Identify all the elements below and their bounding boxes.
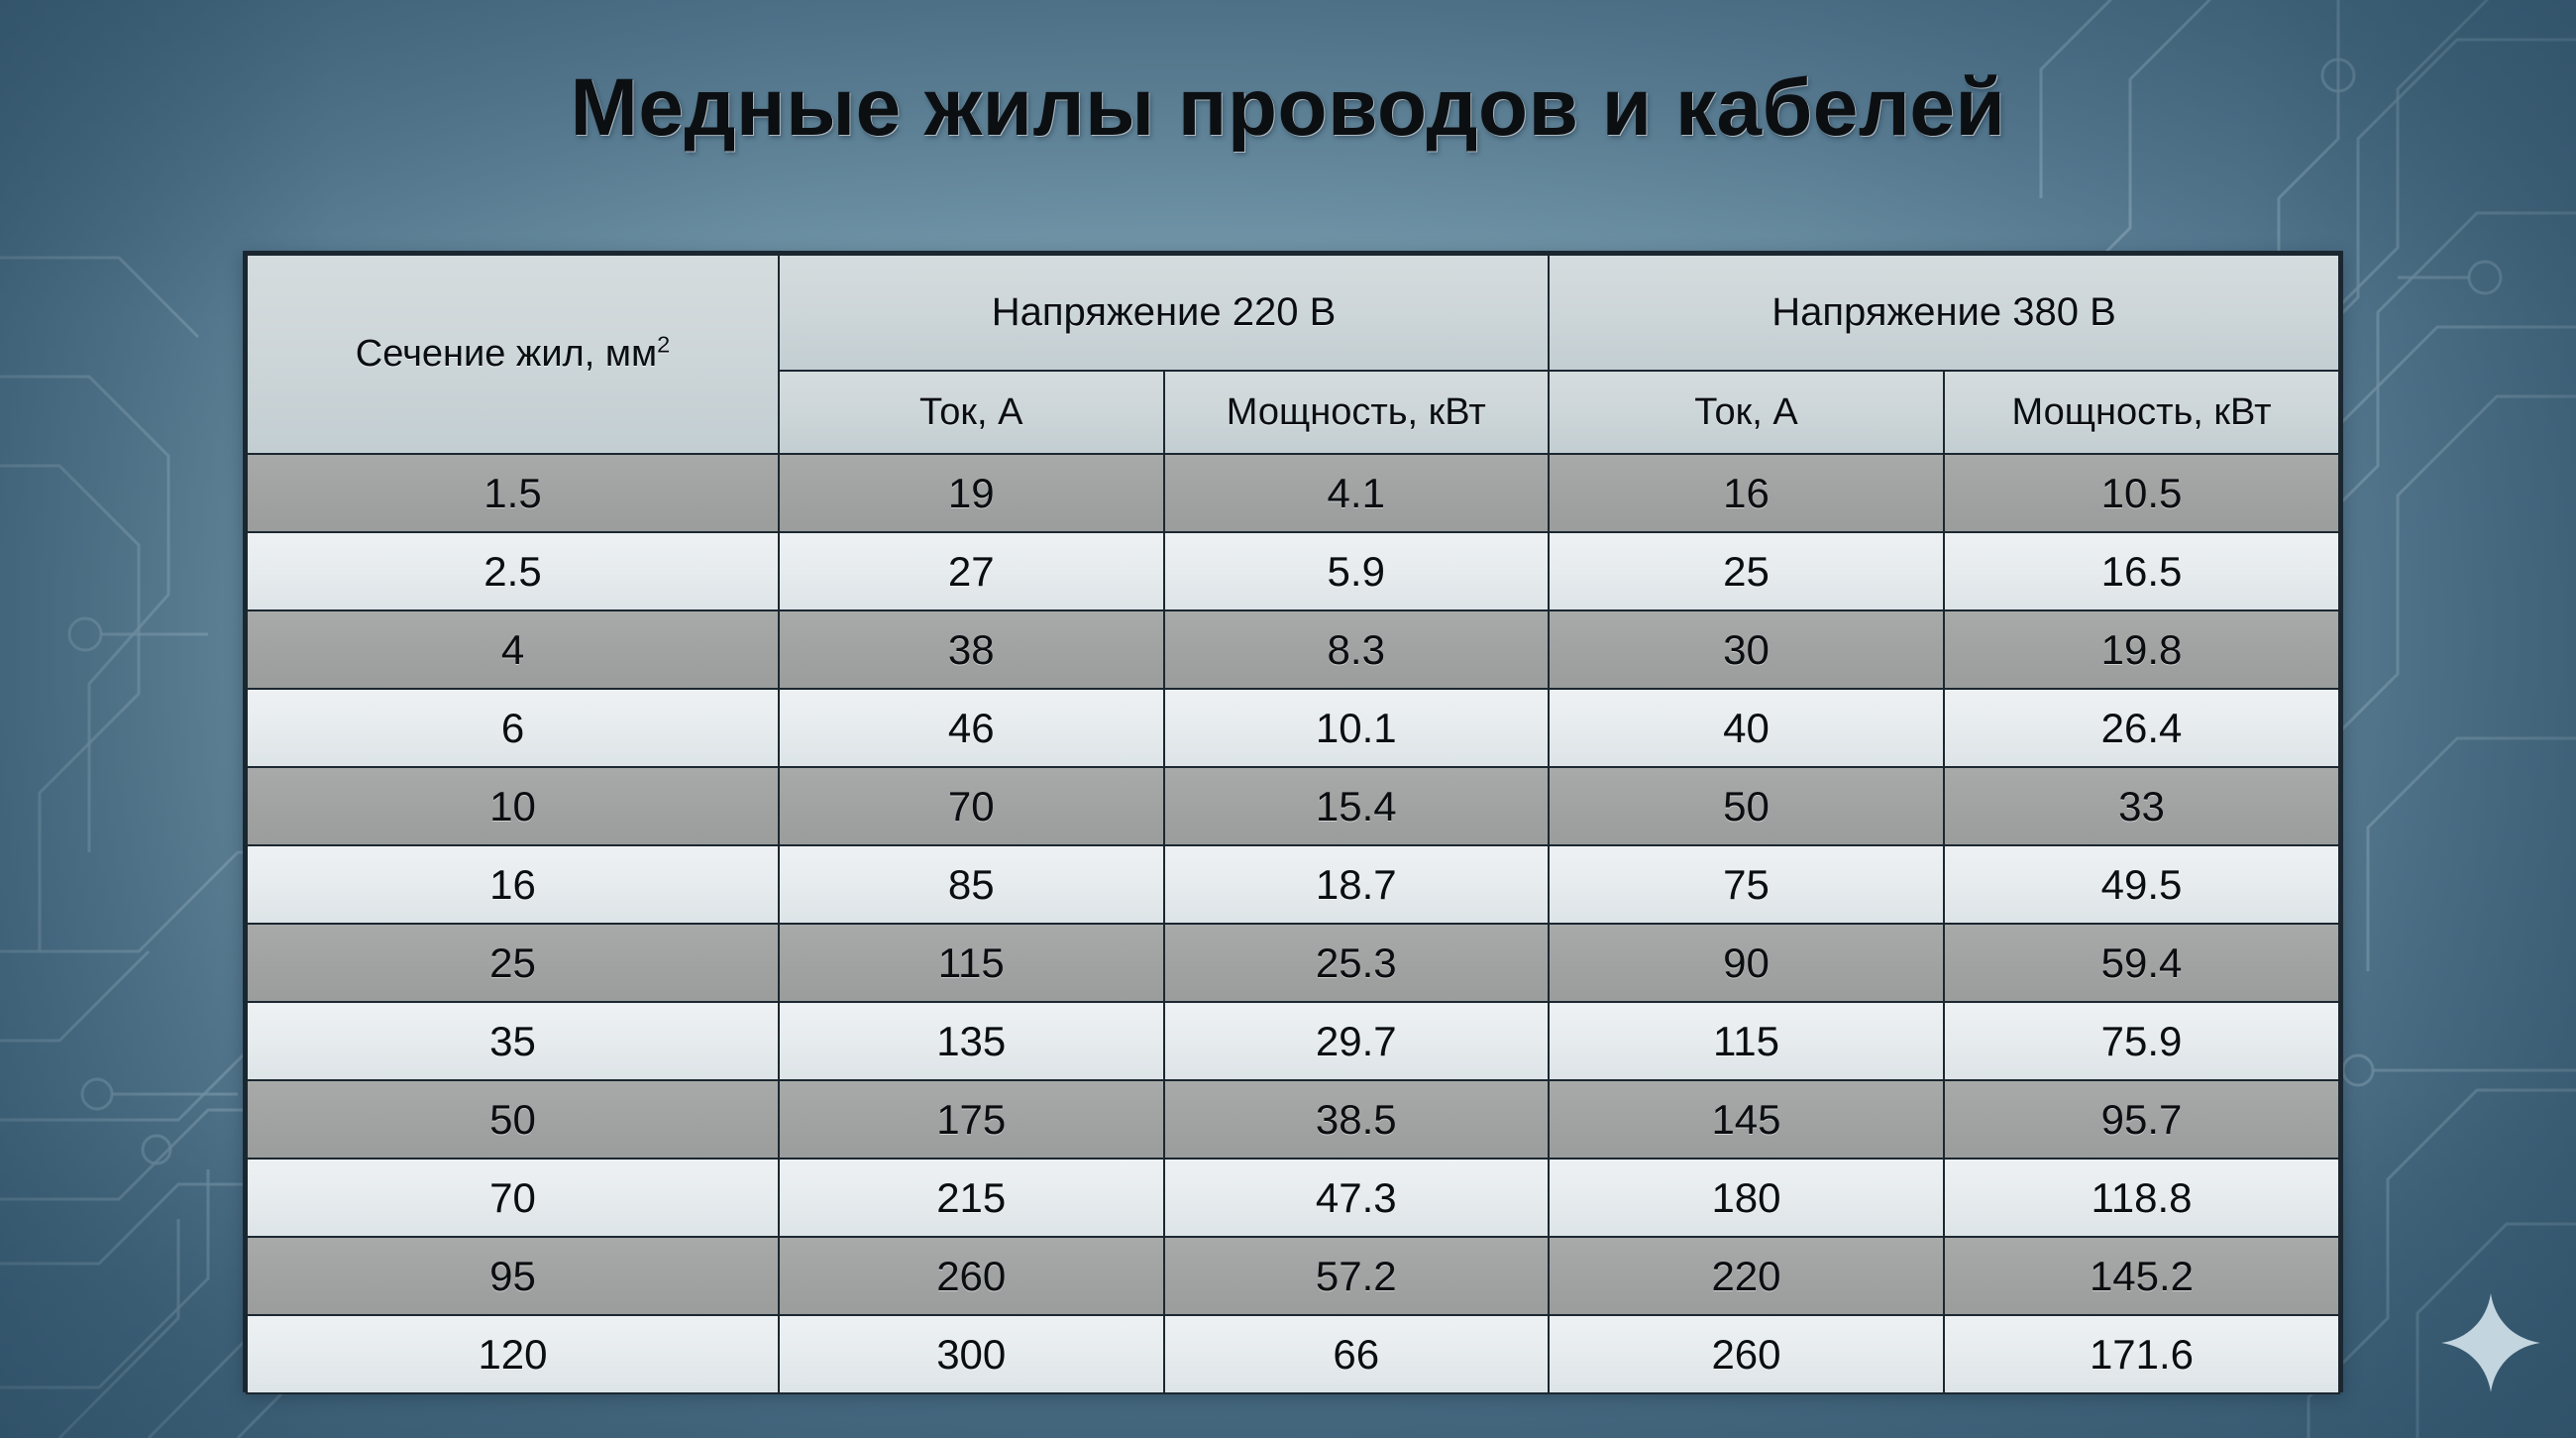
cell-power-220v: 66 (1164, 1315, 1550, 1393)
cell-power-380v: 75.9 (1944, 1002, 2339, 1080)
cell-power-220v: 57.2 (1164, 1237, 1550, 1315)
cell-current-380v: 115 (1549, 1002, 1944, 1080)
cell-power-380v: 19.8 (1944, 610, 2339, 689)
cell-power-380v: 59.4 (1944, 924, 2339, 1002)
cell-cross-section: 35 (247, 1002, 779, 1080)
cell-power-380v: 33 (1944, 767, 2339, 845)
cell-current-220v: 115 (779, 924, 1164, 1002)
cell-current-380v: 145 (1549, 1080, 1944, 1159)
cell-current-380v: 25 (1549, 532, 1944, 610)
cell-cross-section: 50 (247, 1080, 779, 1159)
column-header-current-380v: Ток, А (1549, 371, 1944, 454)
cell-power-220v: 15.4 (1164, 767, 1550, 845)
column-header-cross-section-text: Сечение жил, мм (356, 333, 657, 375)
slide-canvas: Медные жилы проводов и кабелей Сечение ж… (0, 0, 2576, 1438)
column-header-current-220v: Ток, А (779, 371, 1164, 454)
cell-current-380v: 30 (1549, 610, 1944, 689)
table-header: Сечение жил, мм2 Напряжение 220 В Напряж… (247, 255, 2339, 454)
cell-current-380v: 90 (1549, 924, 1944, 1002)
copper-wire-table-container: Сечение жил, мм2 Напряжение 220 В Напряж… (243, 251, 2343, 1392)
table-row: 107015.45033 (247, 767, 2339, 845)
sparkle-icon (2439, 1291, 2542, 1394)
cell-power-380v: 49.5 (1944, 845, 2339, 924)
cell-power-220v: 5.9 (1164, 532, 1550, 610)
cell-power-380v: 171.6 (1944, 1315, 2339, 1393)
cell-power-380v: 16.5 (1944, 532, 2339, 610)
cell-power-220v: 10.1 (1164, 689, 1550, 767)
cell-current-380v: 180 (1549, 1159, 1944, 1237)
column-header-cross-section: Сечение жил, мм2 (247, 255, 779, 454)
cell-current-380v: 220 (1549, 1237, 1944, 1315)
cell-current-380v: 16 (1549, 454, 1944, 532)
cell-cross-section: 120 (247, 1315, 779, 1393)
cell-cross-section: 1.5 (247, 454, 779, 532)
cell-power-220v: 4.1 (1164, 454, 1550, 532)
table-header-row-groups: Сечение жил, мм2 Напряжение 220 В Напряж… (247, 255, 2339, 371)
cell-power-380v: 26.4 (1944, 689, 2339, 767)
cell-current-220v: 175 (779, 1080, 1164, 1159)
table-row: 1.5194.11610.5 (247, 454, 2339, 532)
superscript-two: 2 (657, 331, 670, 357)
cell-current-220v: 85 (779, 845, 1164, 924)
cell-cross-section: 70 (247, 1159, 779, 1237)
cell-cross-section: 95 (247, 1237, 779, 1315)
table-row: 9526057.2220145.2 (247, 1237, 2339, 1315)
column-header-power-220v: Мощность, кВт (1164, 371, 1550, 454)
table-row: 7021547.3180118.8 (247, 1159, 2339, 1237)
cell-current-380v: 40 (1549, 689, 1944, 767)
cell-current-220v: 27 (779, 532, 1164, 610)
cell-power-380v: 145.2 (1944, 1237, 2339, 1315)
table-row: 2511525.39059.4 (247, 924, 2339, 1002)
cell-current-380v: 75 (1549, 845, 1944, 924)
cell-power-220v: 47.3 (1164, 1159, 1550, 1237)
group-header-220v: Напряжение 220 В (779, 255, 1549, 371)
table-row: 3513529.711575.9 (247, 1002, 2339, 1080)
cell-power-220v: 29.7 (1164, 1002, 1550, 1080)
cell-current-220v: 38 (779, 610, 1164, 689)
page-title: Медные жилы проводов и кабелей (0, 61, 2576, 155)
cell-current-220v: 260 (779, 1237, 1164, 1315)
cell-current-220v: 300 (779, 1315, 1164, 1393)
table-row: 2.5275.92516.5 (247, 532, 2339, 610)
table-row: 168518.77549.5 (247, 845, 2339, 924)
copper-wire-table: Сечение жил, мм2 Напряжение 220 В Напряж… (246, 254, 2340, 1394)
cell-power-380v: 95.7 (1944, 1080, 2339, 1159)
cell-power-220v: 8.3 (1164, 610, 1550, 689)
cell-cross-section: 10 (247, 767, 779, 845)
cell-power-220v: 18.7 (1164, 845, 1550, 924)
cell-current-220v: 70 (779, 767, 1164, 845)
cell-cross-section: 2.5 (247, 532, 779, 610)
table-body: 1.5194.11610.52.5275.92516.54388.33019.8… (247, 454, 2339, 1393)
cell-power-380v: 10.5 (1944, 454, 2339, 532)
cell-power-380v: 118.8 (1944, 1159, 2339, 1237)
cell-current-220v: 215 (779, 1159, 1164, 1237)
cell-cross-section: 16 (247, 845, 779, 924)
cell-current-380v: 50 (1549, 767, 1944, 845)
column-header-power-380v: Мощность, кВт (1944, 371, 2339, 454)
cell-power-220v: 25.3 (1164, 924, 1550, 1002)
cell-cross-section: 6 (247, 689, 779, 767)
cell-current-220v: 46 (779, 689, 1164, 767)
cell-cross-section: 25 (247, 924, 779, 1002)
cell-current-220v: 135 (779, 1002, 1164, 1080)
cell-cross-section: 4 (247, 610, 779, 689)
table-row: 12030066260171.6 (247, 1315, 2339, 1393)
table-row: 4388.33019.8 (247, 610, 2339, 689)
group-header-380v: Напряжение 380 В (1549, 255, 2339, 371)
cell-current-380v: 260 (1549, 1315, 1944, 1393)
table-row: 5017538.514595.7 (247, 1080, 2339, 1159)
cell-power-220v: 38.5 (1164, 1080, 1550, 1159)
cell-current-220v: 19 (779, 454, 1164, 532)
table-row: 64610.14026.4 (247, 689, 2339, 767)
